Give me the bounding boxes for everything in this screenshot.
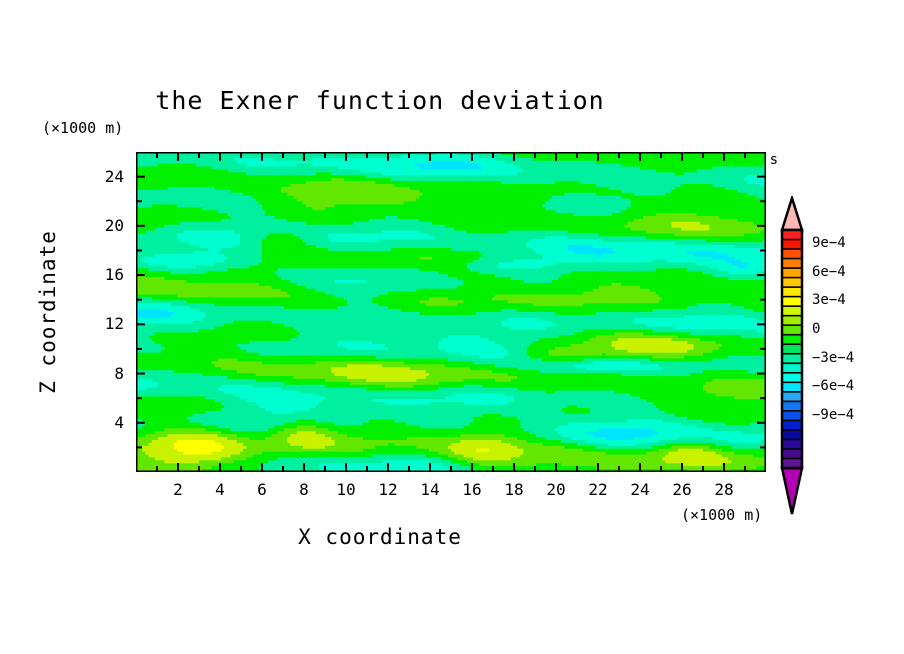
x-tick-label: 20 <box>536 480 576 499</box>
contour-plot <box>136 152 766 472</box>
colorbar-tick-label: 6e−4 <box>812 264 846 280</box>
x-tick-label: 8 <box>284 480 324 499</box>
x-tick-label: 16 <box>452 480 492 499</box>
y-tick-label: 24 <box>0 167 124 186</box>
x-tick-label: 28 <box>704 480 744 499</box>
x-tick-label: 24 <box>620 480 660 499</box>
y-axis-title: Z coordinate <box>36 202 60 422</box>
x-tick-label: 2 <box>158 480 198 499</box>
x-tick-label: 4 <box>200 480 240 499</box>
colorbar <box>778 196 812 516</box>
colorbar-tick-label: 0 <box>812 321 820 337</box>
y-tick-label: 8 <box>0 364 124 383</box>
x-tick-label: 12 <box>368 480 408 499</box>
y-tick-label: 4 <box>0 413 124 432</box>
page-title: the Exner function deviation <box>0 86 760 115</box>
x-axis-units-label: (×1000 m) <box>681 506 762 524</box>
colorbar-tick-label: −9e−4 <box>812 407 854 423</box>
colorbar-tick-label: 3e−4 <box>812 292 846 308</box>
colorbar-tick-label: −6e−4 <box>812 378 854 394</box>
colorbar-tick-label: 9e−4 <box>812 235 846 251</box>
x-tick-label: 6 <box>242 480 282 499</box>
x-tick-label: 14 <box>410 480 450 499</box>
x-tick-label: 26 <box>662 480 702 499</box>
y-tick-label: 20 <box>0 216 124 235</box>
y-tick-label: 16 <box>0 265 124 284</box>
y-tick-label: 12 <box>0 314 124 333</box>
colorbar-tick-label: −3e−4 <box>812 350 854 366</box>
x-tick-label: 10 <box>326 480 366 499</box>
x-tick-label: 18 <box>494 480 534 499</box>
x-axis-title: X coordinate <box>0 525 760 549</box>
x-tick-label: 22 <box>578 480 618 499</box>
z-axis-units-label: (×1000 m) <box>42 119 123 137</box>
